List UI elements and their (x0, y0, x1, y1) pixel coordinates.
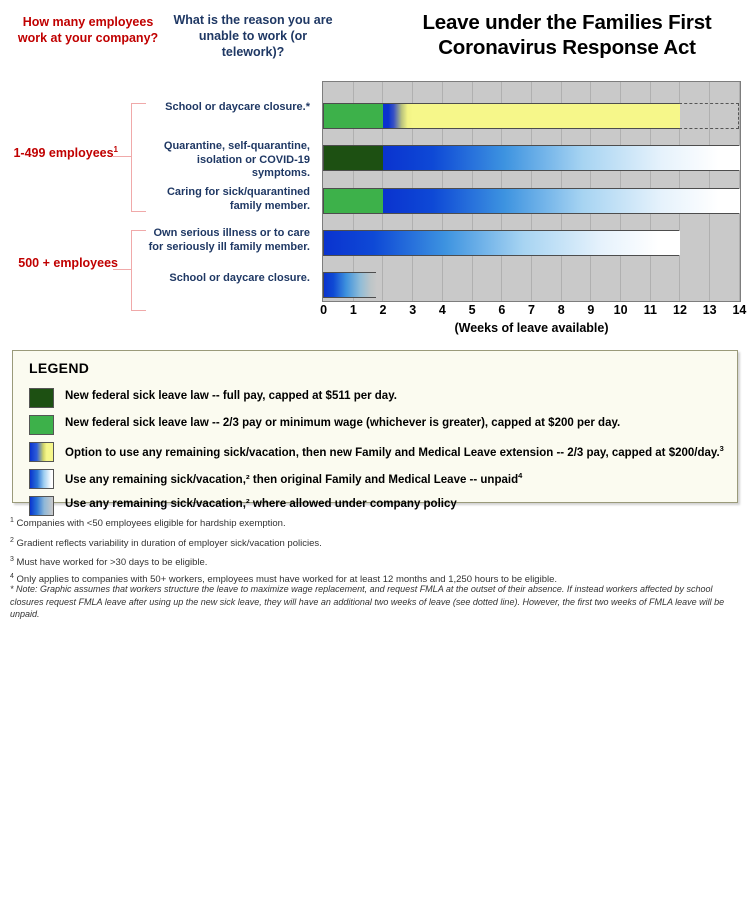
bar-2 (323, 188, 739, 214)
legend-label-two-thirds-pay: New federal sick leave law -- 2/3 pay or… (65, 417, 620, 429)
legend-label-fmla-extension-sup: 3 (720, 444, 724, 453)
bar-4 (323, 272, 376, 298)
x-tick-13: 13 (703, 303, 717, 317)
bar-segment-3-0 (324, 231, 680, 255)
bracket-stem-2 (113, 269, 131, 270)
footnote-1-marker: 1 (10, 517, 14, 524)
page-title: Leave under the Families First Coronavir… (384, 10, 750, 60)
x-tick-6: 6 (498, 303, 505, 317)
footnote-2-text: Gradient reflects variability in duratio… (17, 538, 322, 549)
x-tick-3: 3 (409, 303, 416, 317)
bar-segment-2-0 (324, 189, 383, 213)
legend-title: LEGEND (29, 360, 89, 376)
row-label-own-serious-illness: Own serious illness or to care for serio… (138, 227, 310, 254)
legend-label-fmla-extension: Option to use any remaining sick/vacatio… (65, 444, 724, 459)
chart-plot-area (322, 81, 741, 302)
bar-segment-4-0 (324, 273, 377, 297)
bar-row-1 (323, 145, 740, 171)
legend-swatch-blue-yellow (29, 442, 54, 462)
bar-dashed-extension-0 (679, 103, 738, 129)
group-label-1-499-text: 1-499 employees (13, 146, 113, 160)
bar-segment-2-1 (383, 189, 739, 213)
x-tick-14: 14 (732, 303, 746, 317)
footnote-3-marker: 3 (10, 556, 14, 563)
x-tick-7: 7 (528, 303, 535, 317)
x-tick-8: 8 (558, 303, 565, 317)
legend-swatch-green (29, 415, 54, 435)
row-label-caring-for-sick: Caring for sick/quarantined family membe… (138, 186, 310, 213)
note-text: * Note: Graphic assumes that workers str… (10, 583, 726, 621)
legend-label-company-policy: Use any remaining sick/vacation,² where … (65, 498, 457, 510)
legend-swatch-blue-white (29, 469, 54, 489)
legend-label-original-fmla-sup: 4 (518, 471, 522, 480)
footnote-1: 1 Companies with <50 employees eligible … (10, 517, 286, 529)
chart-x-axis: 01234567891011121314 (322, 303, 741, 321)
bar-segment-1-1 (383, 146, 739, 170)
x-tick-10: 10 (614, 303, 628, 317)
bar-3 (323, 230, 679, 256)
bar-row-0 (323, 103, 740, 129)
x-tick-12: 12 (673, 303, 687, 317)
question-employees: How many employees work at your company? (8, 14, 168, 46)
group-label-1-499-sup: 1 (114, 145, 118, 154)
chart-x-axis-label: (Weeks of leave available) (322, 321, 741, 335)
legend-swatch-dark-green (29, 388, 54, 408)
footnote-2: 2 Gradient reflects variability in durat… (10, 537, 322, 549)
x-tick-4: 4 (439, 303, 446, 317)
question-reason: What is the reason you are unable to wor… (168, 12, 338, 60)
row-label-quarantine: Quarantine, self-quarantine, isolation o… (138, 140, 310, 181)
bar-row-3 (323, 230, 740, 256)
group-label-500-plus: 500 + employees (0, 256, 118, 270)
x-tick-5: 5 (469, 303, 476, 317)
bar-0 (323, 103, 679, 129)
bar-segment-1-0 (324, 146, 383, 170)
bar-1 (323, 145, 739, 171)
legend-label-fmla-extension-text: Option to use any remaining sick/vacatio… (65, 447, 720, 459)
bar-row-2 (323, 188, 740, 214)
x-tick-0: 0 (320, 303, 327, 317)
legend-label-full-pay: New federal sick leave law -- full pay, … (65, 390, 397, 402)
footnote-3-text: Must have worked for >30 days to be elig… (17, 557, 208, 568)
x-tick-1: 1 (350, 303, 357, 317)
legend-label-original-fmla-text: Use any remaining sick/vacation,² then o… (65, 474, 518, 486)
legend-box: LEGEND New federal sick leave law -- ful… (12, 350, 738, 503)
group-label-500-plus-text: 500 + employees (18, 256, 118, 270)
x-tick-11: 11 (644, 303, 657, 317)
row-label-school-daycare-closure-2: School or daycare closure. (138, 272, 310, 286)
bar-segment-0-2 (413, 104, 680, 128)
footnote-2-marker: 2 (10, 537, 14, 544)
bar-segment-0-1 (383, 104, 413, 128)
x-tick-9: 9 (587, 303, 594, 317)
bracket-stem-1 (113, 156, 131, 157)
x-tick-2: 2 (380, 303, 387, 317)
group-label-1-499: 1-499 employees1 (0, 145, 118, 160)
bar-row-4 (323, 272, 740, 298)
legend-swatch-blue-grey (29, 496, 54, 516)
footnote-4-marker: 4 (10, 573, 14, 580)
footnote-1-text: Companies with <50 employees eligible fo… (17, 518, 286, 529)
bar-segment-0-0 (324, 104, 383, 128)
row-label-school-daycare-closure-1: School or daycare closure.* (138, 101, 310, 115)
footnote-3: 3 Must have worked for >30 days to be el… (10, 556, 207, 568)
legend-label-original-fmla: Use any remaining sick/vacation,² then o… (65, 471, 522, 486)
header: How many employees work at your company?… (0, 0, 754, 78)
